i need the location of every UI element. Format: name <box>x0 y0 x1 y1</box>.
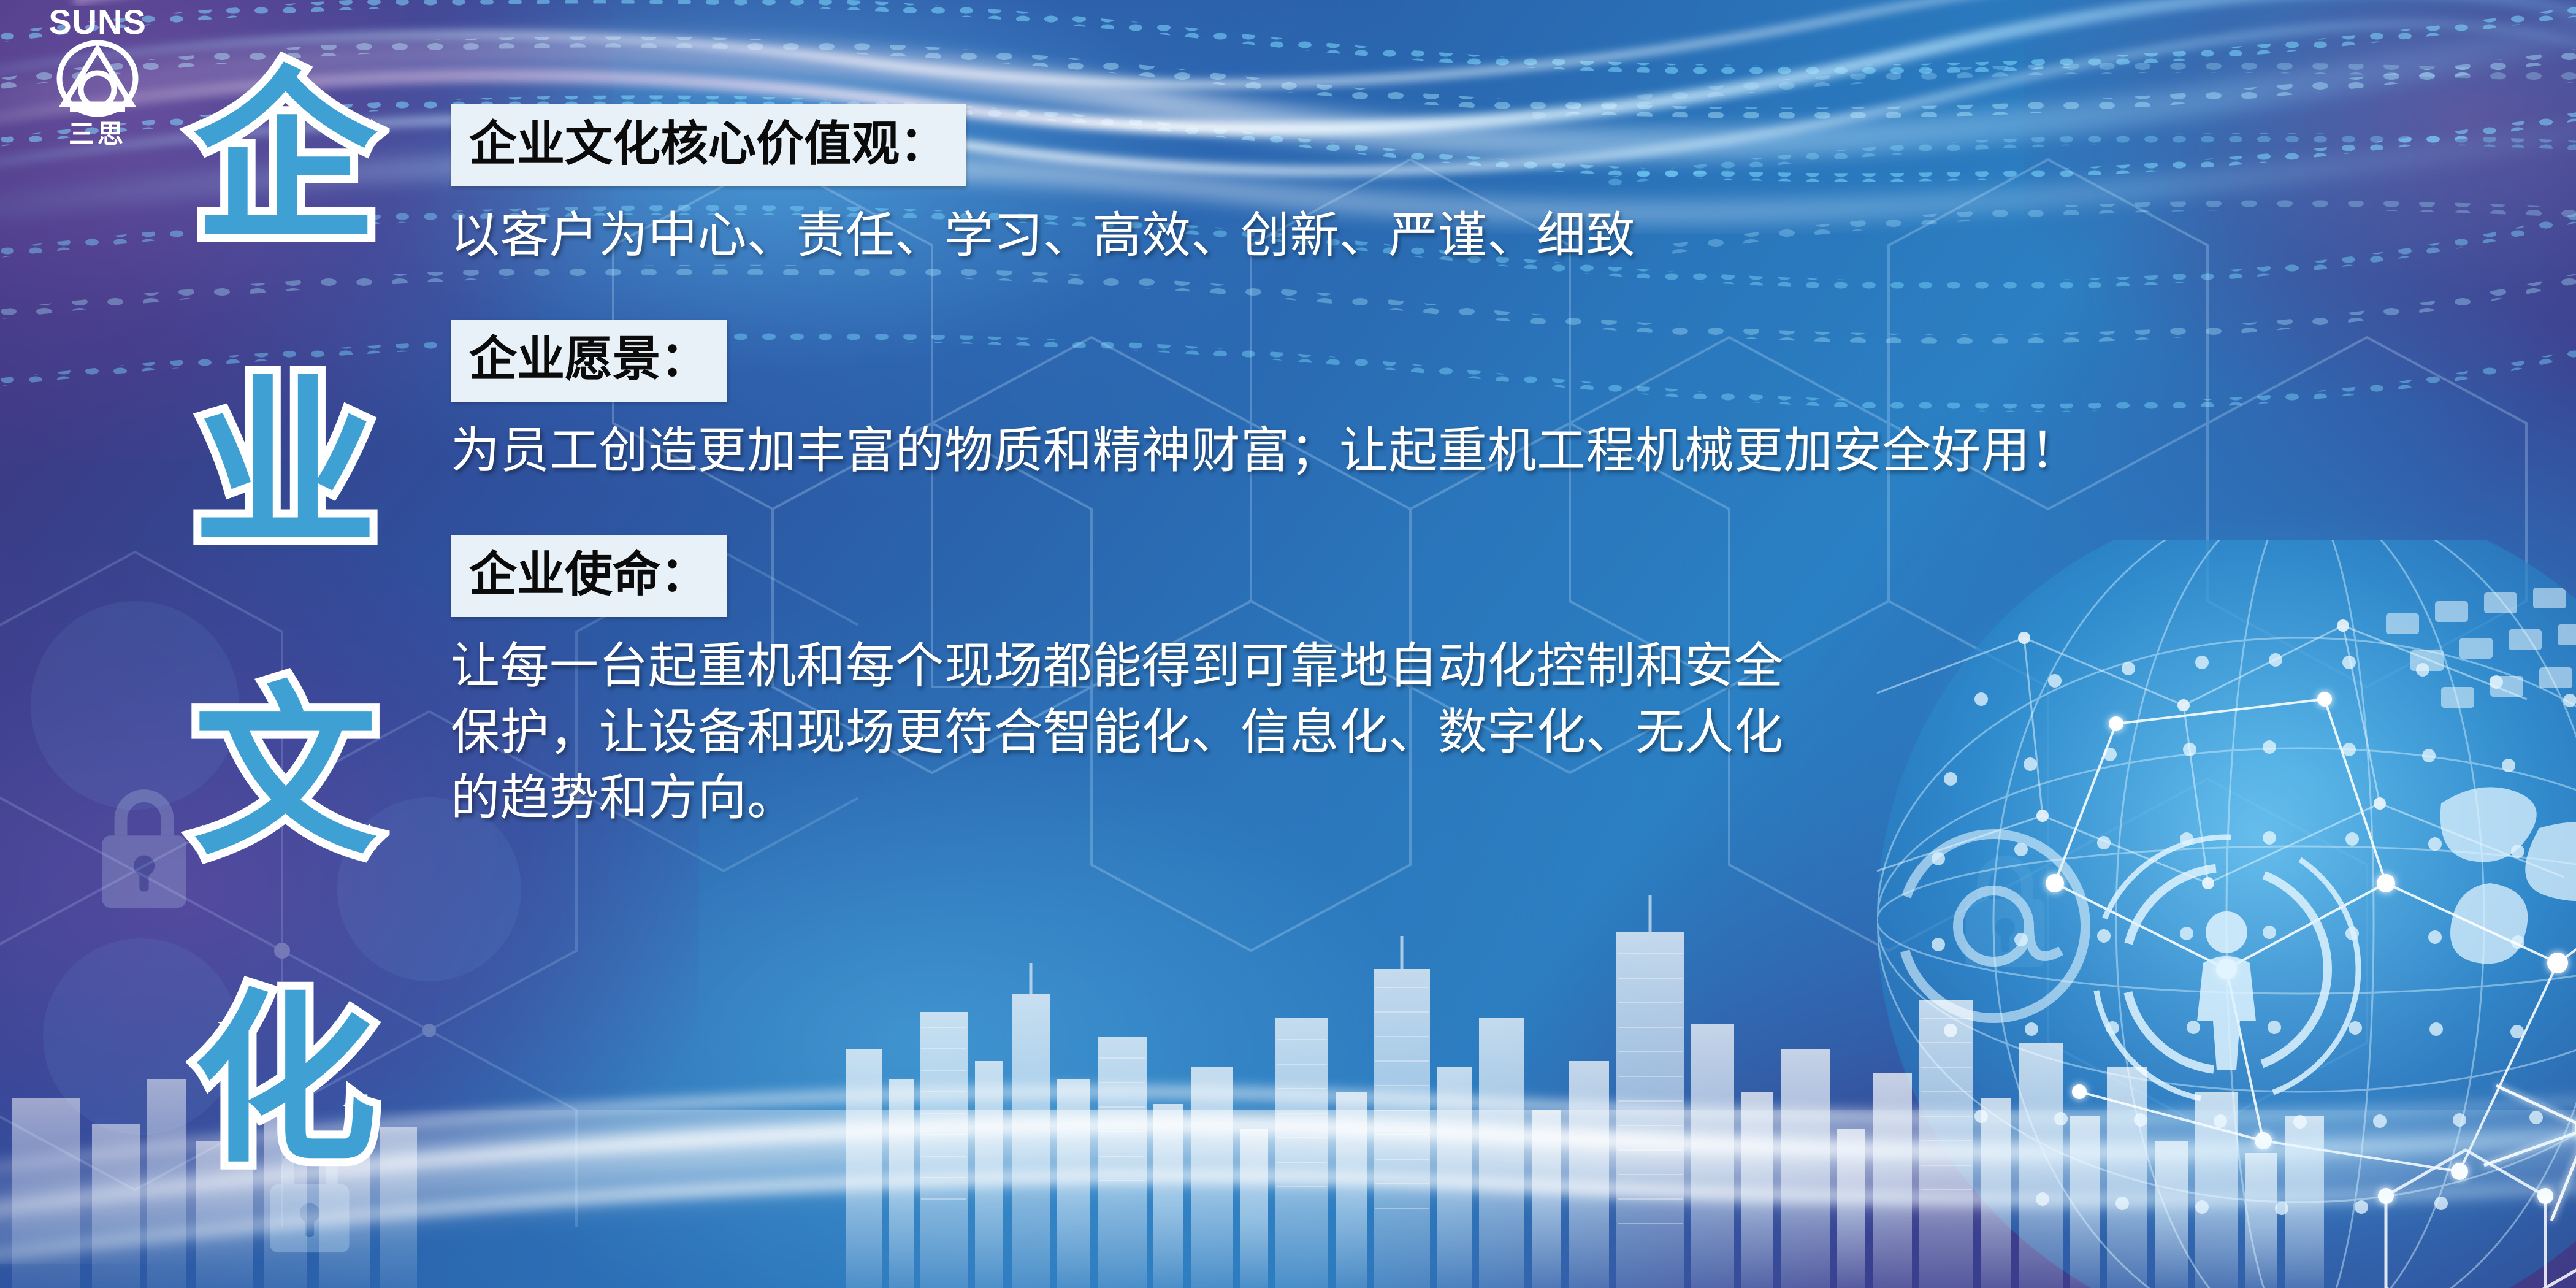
section-vision: 企业愿景： 为员工创造更加丰富的物质和精神财富；让起重机工程机械更加安全好用！ <box>451 320 2536 483</box>
mission-body: 让每一台起重机和每个现场都能得到可靠地自动化控制和安全 保护，让设备和现场更符合… <box>451 633 2536 830</box>
core-values-title: 企业文化核心价值观： <box>451 104 966 186</box>
poster-canvas: SUNS 三思 企 业 文 化 企业文化核心价值观： 以客户为中心、责任、学习、… <box>0 0 2576 1288</box>
padlock-icon-3 <box>1950 846 2060 978</box>
headline-char-1: 企 <box>193 74 377 243</box>
vertical-headline: 企 业 文 化 <box>156 74 414 1165</box>
headline-char-2: 业 <box>193 381 377 550</box>
section-core-values: 企业文化核心价值观： 以客户为中心、责任、学习、高效、创新、严谨、细致 <box>451 104 2536 268</box>
brand-name-cn: 三思 <box>69 121 126 147</box>
content-column: 企业文化核心价值观： 以客户为中心、责任、学习、高效、创新、严谨、细致 企业愿景… <box>451 104 2536 830</box>
headline-char-4: 化 <box>193 996 377 1165</box>
vision-body: 为员工创造更加丰富的物质和精神财富；让起重机工程机械更加安全好用！ <box>451 418 2536 483</box>
headline-char-3: 文 <box>193 689 377 858</box>
suns-circle-triangle-emblem-icon <box>52 40 143 120</box>
brand-name-en: SUNS <box>48 5 147 39</box>
person-node-icon <box>2095 837 2358 1101</box>
at-sign-node-icon <box>1901 834 2085 1018</box>
core-values-body: 以客户为中心、责任、学习、高效、创新、严谨、细致 <box>451 202 2536 268</box>
purple-glow-bottom-right <box>2024 932 2576 1288</box>
vision-title: 企业愿景： <box>451 320 727 402</box>
section-mission: 企业使命： 让每一台起重机和每个现场都能得到可靠地自动化控制和安全 保护，让设备… <box>451 535 2536 830</box>
mission-title: 企业使命： <box>451 535 727 617</box>
brand-logo[interactable]: SUNS 三思 <box>21 5 174 158</box>
